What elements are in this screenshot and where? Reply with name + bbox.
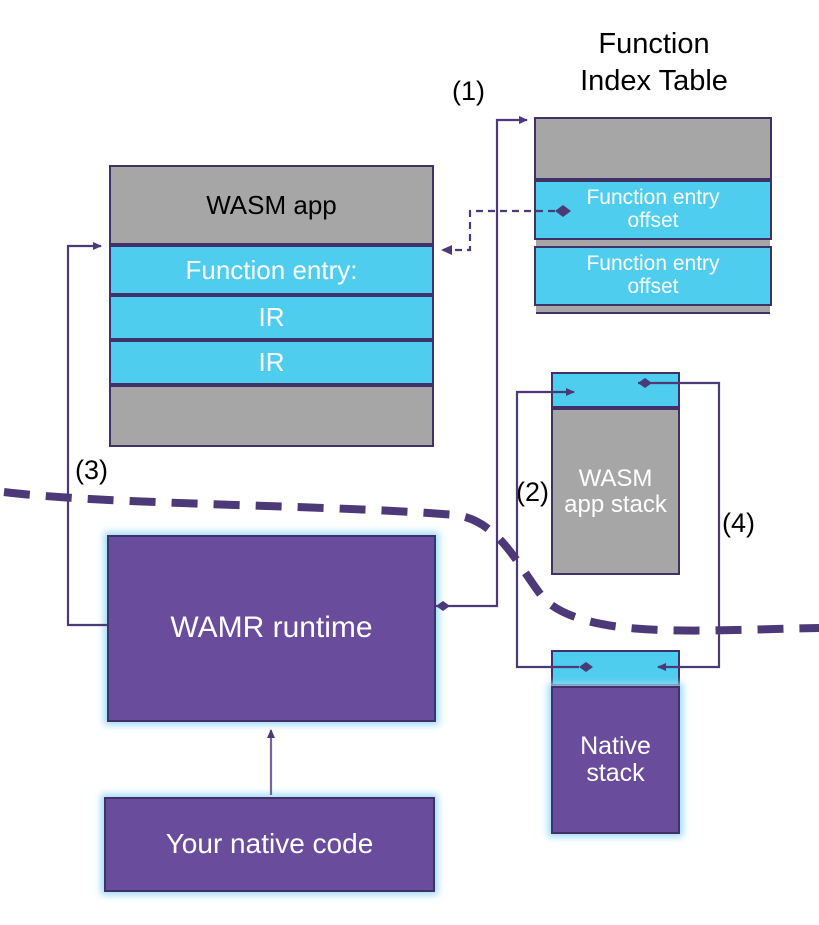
step-label-2: (2) [516, 477, 549, 508]
fit-separator-2 [536, 306, 770, 314]
your-native-code-label: Your native code [106, 799, 433, 890]
wamr-runtime-label: WAMR runtime [109, 537, 434, 720]
wasm-app-ir-2-label: IR [111, 342, 432, 383]
wasm-app-stack-label: WASM app stack [553, 410, 678, 573]
wasm-app-row-ir-1[interactable]: IR [109, 295, 434, 340]
native-stack-top[interactable] [551, 650, 680, 686]
fit-row-offset-1[interactable]: Function entry offset [534, 180, 772, 240]
fit-row-offset-2[interactable]: Function entry offset [534, 246, 772, 306]
native-stack-body: Native stack [551, 686, 680, 834]
step-label-1: (1) [452, 76, 485, 107]
diagram-canvas: Function Index Table Function entry offs… [0, 0, 819, 925]
function-index-table-title: Function Index Table [538, 26, 770, 100]
function-index-table-title-line2: Index Table [538, 63, 770, 100]
step-label-4: (4) [722, 508, 755, 539]
function-index-table-title-line1: Function [538, 26, 770, 63]
connector-1-runtime-to-index-table [436, 120, 527, 611]
wasm-app-ir-1-label: IR [111, 297, 432, 338]
fit-row-header [534, 117, 772, 180]
fit-row-offset-1-label: Function entry offset [536, 182, 770, 238]
wasm-app-stack-body: WASM app stack [551, 408, 680, 575]
wasm-app-row-header: WASM app [109, 165, 434, 245]
wasm-app-row-ir-2[interactable]: IR [109, 340, 434, 385]
wasm-app-row-footer [109, 385, 434, 447]
wasm-app-row-function-entry[interactable]: Function entry: [109, 245, 434, 295]
wasm-app-label: WASM app [111, 167, 432, 243]
connector-3-runtime-to-wasm-app [68, 246, 107, 625]
your-native-code-box[interactable]: Your native code [104, 797, 435, 892]
wasm-app-stack-top[interactable] [551, 372, 680, 408]
wamr-runtime-box[interactable]: WAMR runtime [107, 535, 436, 722]
fit-row-offset-2-label: Function entry offset [536, 248, 770, 304]
step-label-3: (3) [75, 455, 108, 486]
native-stack-label: Native stack [553, 688, 678, 832]
wasm-app-function-entry-label: Function entry: [111, 247, 432, 293]
